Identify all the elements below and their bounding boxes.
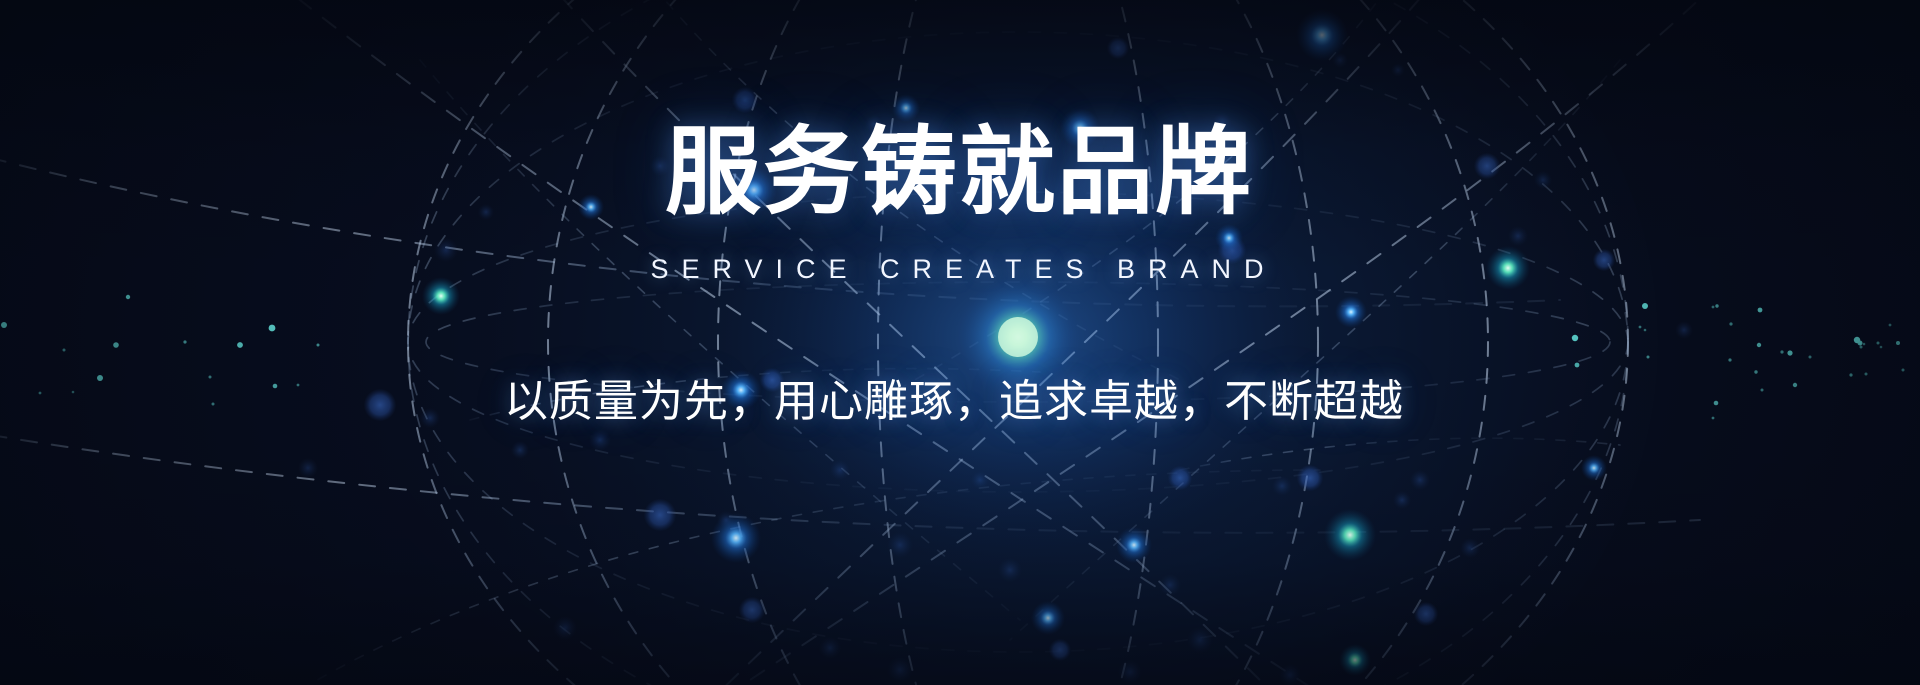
banner-headline: 服务铸就品牌: [0, 122, 1918, 224]
banner-tagline: 以质量为先，用心雕琢，追求卓越，不断超越: [0, 365, 1914, 429]
hero-banner: 服务铸就品牌 SERVICE CREATES BRAND 以质量为先，用心雕琢，…: [0, 0, 1920, 685]
banner-content: 服务铸就品牌 SERVICE CREATES BRAND 以质量为先，用心雕琢，…: [0, 0, 1920, 685]
banner-subtitle-english: SERVICE CREATES BRAND: [0, 254, 1917, 285]
